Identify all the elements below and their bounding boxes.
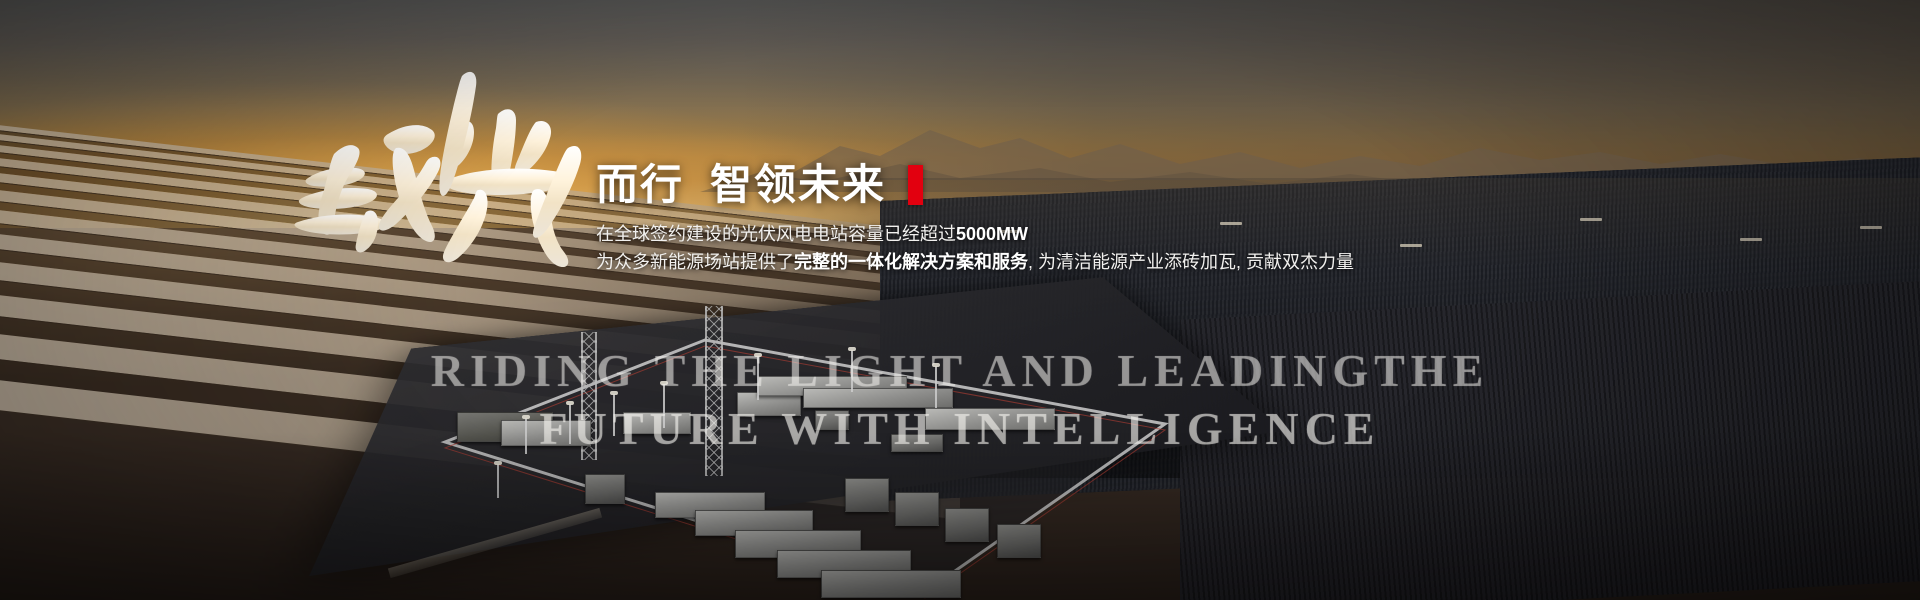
subtitle-line-2: 为众多新能源场站提供了完整的一体化解决方案和服务, 为清洁能源产业添砖加瓦, 贡…	[596, 248, 1696, 276]
red-accent-mark	[908, 165, 923, 205]
headline-segment-2: 智领未来	[710, 160, 886, 210]
light-pole	[569, 404, 571, 444]
subtitle-line-2-bold: 完整的一体化解决方案和服务	[794, 252, 1028, 272]
small-cabinet	[891, 434, 943, 452]
transformer-platform	[623, 412, 691, 434]
hero-banner: 而行 智领未来 在全球签约建设的光伏风电电站容量已经超过5000MW 为众多新能…	[0, 0, 1920, 600]
light-pole	[757, 356, 759, 400]
light-pole	[851, 350, 853, 392]
bess-container	[925, 408, 1055, 430]
bess-container	[803, 388, 953, 408]
inverter-cabinet	[895, 492, 939, 526]
equipment-cabinet	[585, 474, 625, 504]
light-pole	[663, 384, 665, 428]
subtitle-line-1: 在全球签约建设的光伏风电电站容量已经超过5000MW	[596, 220, 1696, 248]
subtitle-line-1-prefix: 在全球签约建设的光伏风电电站容量已经超过	[596, 224, 956, 244]
aux-transformer	[815, 410, 849, 430]
headline-segment-1: 而行	[596, 160, 684, 210]
substation-plant	[405, 292, 1225, 600]
light-pole	[525, 418, 527, 454]
switchgear-building	[501, 420, 591, 446]
subtitle-line-2-prefix: 为众多新能源场站提供了	[596, 252, 794, 272]
inverter-cabinet	[997, 524, 1041, 558]
banner-text-block: 而行 智领未来 在全球签约建设的光伏风电电站容量已经超过5000MW 为众多新能…	[596, 160, 1696, 276]
headline: 而行 智领未来	[596, 160, 1696, 210]
light-pole	[497, 464, 499, 498]
light-pole	[613, 394, 615, 436]
far-panel-band	[1180, 280, 1920, 600]
subtitle-line-1-bold: 5000MW	[956, 224, 1028, 244]
transmission-pylon-center	[705, 306, 723, 476]
light-pole	[935, 366, 937, 408]
bess-container	[821, 570, 961, 598]
subtitle-line-2-suffix: , 为清洁能源产业添砖加瓦, 贡献双杰力量	[1028, 252, 1354, 272]
inverter-cabinet	[845, 478, 889, 512]
inverter-cabinet	[945, 508, 989, 542]
